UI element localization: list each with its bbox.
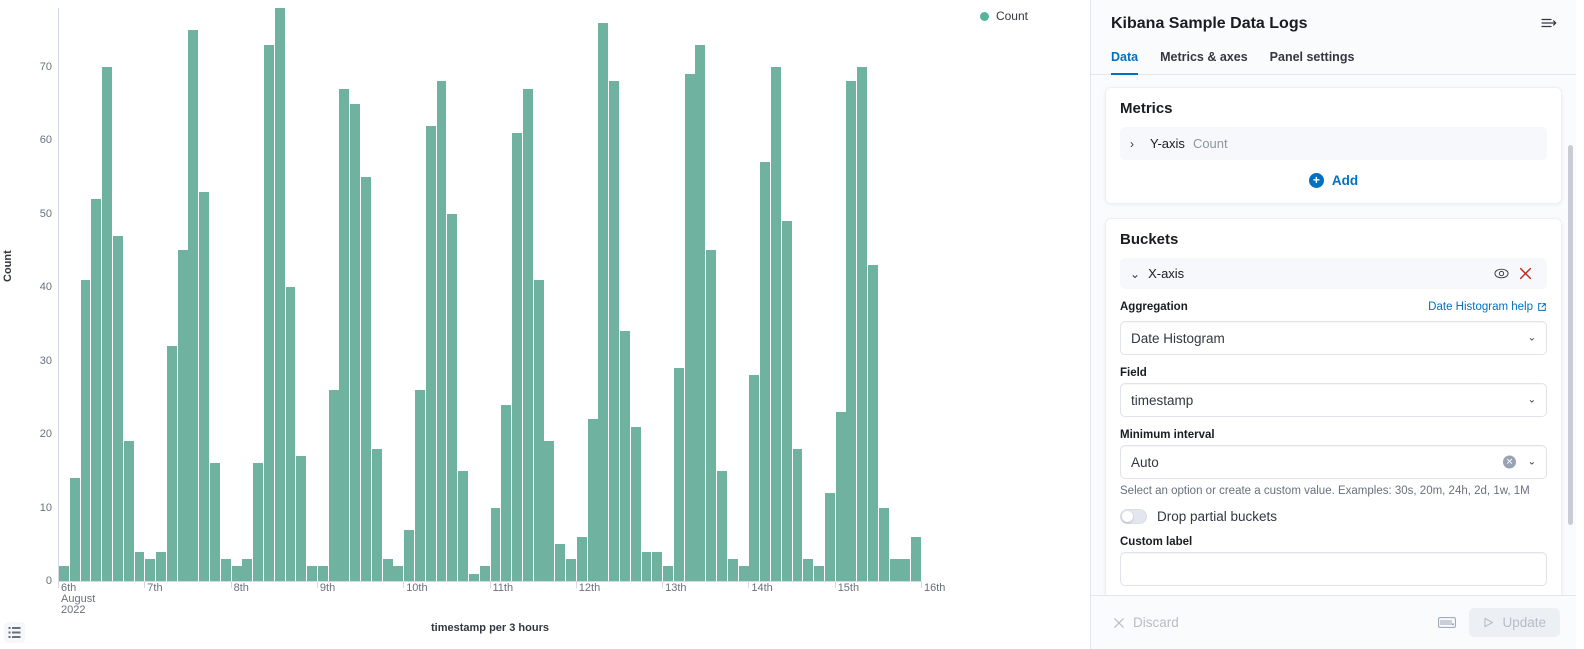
tick-mark	[144, 581, 145, 588]
x-axis-title: timestamp per 3 hours	[58, 622, 922, 634]
discard-label: Discard	[1133, 615, 1179, 630]
tab-panel-settings[interactable]: Panel settings	[1270, 46, 1355, 75]
update-button[interactable]: Update	[1469, 608, 1560, 637]
bar[interactable]	[868, 265, 878, 581]
tick-mark	[662, 581, 663, 588]
bar[interactable]	[598, 23, 608, 581]
bar[interactable]	[857, 67, 867, 581]
y-axis-tick-label: 70	[40, 61, 52, 73]
drop-partial-buckets-row: Drop partial buckets	[1120, 509, 1547, 524]
tab-metrics-axes[interactable]: Metrics & axes	[1160, 46, 1248, 75]
bar[interactable]	[210, 463, 220, 581]
bar[interactable]	[706, 250, 716, 581]
aggregation-select[interactable]: Date Histogram ⌄	[1120, 321, 1547, 355]
bar[interactable]	[534, 280, 544, 581]
bar[interactable]	[188, 30, 198, 581]
editor-tabs: Data Metrics & axes Panel settings	[1091, 46, 1576, 75]
x-axis-tick-label: 9th	[320, 583, 335, 594]
metrics-card: Metrics › Y-axis Count + Add	[1105, 87, 1562, 204]
chevron-down-icon: ⌄	[1528, 457, 1536, 468]
bucket-row-x-axis[interactable]: ⌄ X-axis	[1120, 258, 1547, 289]
bar[interactable]	[350, 104, 360, 582]
custom-label-label: Custom label	[1120, 536, 1547, 548]
bar[interactable]	[59, 566, 69, 581]
custom-label-input[interactable]	[1120, 552, 1547, 586]
bar[interactable]	[81, 280, 91, 581]
bar[interactable]	[512, 133, 522, 581]
editor-body: Metrics › Y-axis Count + Add Buckets ⌄ X…	[1091, 75, 1576, 595]
bar[interactable]	[663, 566, 673, 581]
bar[interactable]	[242, 559, 252, 581]
tick-mark	[403, 581, 404, 588]
bar[interactable]	[156, 552, 166, 581]
bar[interactable]	[803, 559, 813, 581]
bar[interactable]	[911, 537, 921, 581]
bar[interactable]	[469, 574, 479, 581]
bar[interactable]	[383, 559, 393, 581]
bar[interactable]	[404, 530, 414, 581]
y-axis-tick-label: 40	[40, 281, 52, 293]
tick-mark	[835, 581, 836, 588]
tick-mark	[317, 581, 318, 588]
bar[interactable]	[555, 544, 565, 581]
bar[interactable]	[232, 566, 242, 581]
bar[interactable]	[685, 74, 695, 581]
chevron-down-icon: ⌄	[1528, 395, 1536, 406]
chart-pane: Count Count 010203040506070 6th August 2…	[0, 0, 1090, 649]
bar[interactable]	[329, 390, 339, 581]
bar[interactable]	[70, 478, 80, 581]
remove-bucket-close-icon[interactable]	[1514, 267, 1537, 280]
legend-list-toggle-icon[interactable]	[4, 622, 25, 643]
bar[interactable]	[145, 559, 155, 581]
page-title: Kibana Sample Data Logs	[1111, 14, 1556, 34]
bar[interactable]	[782, 221, 792, 581]
tick-mark	[748, 581, 749, 588]
x-axis-tick-label: 12th	[579, 583, 600, 594]
tick-mark	[58, 581, 59, 588]
x-axis-tick-label: 11th	[493, 583, 514, 594]
bar-series	[59, 8, 922, 581]
bar[interactable]	[825, 493, 835, 581]
bar[interactable]	[609, 81, 619, 581]
kibana-visualize-editor: Count Count 010203040506070 6th August 2…	[0, 0, 1584, 649]
bar[interactable]	[728, 559, 738, 581]
metric-row-label: Y-axis	[1150, 136, 1185, 151]
collapse-panel-icon[interactable]	[1538, 12, 1560, 34]
x-axis-tick-label: 13th	[665, 583, 686, 594]
bar[interactable]	[846, 81, 856, 581]
bar[interactable]	[437, 81, 447, 581]
bar[interactable]	[339, 89, 349, 581]
x-axis-tick-label: 14th	[751, 583, 772, 594]
minimum-interval-label: Minimum interval	[1120, 429, 1547, 441]
bucket-row-label: X-axis	[1148, 266, 1489, 281]
bar[interactable]	[275, 8, 285, 581]
bar[interactable]	[91, 199, 101, 581]
update-label: Update	[1502, 615, 1546, 630]
tick-mark	[490, 581, 491, 588]
bar[interactable]	[253, 463, 263, 581]
date-histogram-help-link[interactable]: Date Histogram help	[1428, 301, 1547, 313]
y-axis-tick-labels: 010203040506070	[20, 0, 52, 649]
bar[interactable]	[221, 559, 231, 581]
tick-mark	[921, 581, 922, 588]
bar[interactable]	[566, 559, 576, 581]
bar[interactable]	[739, 566, 749, 581]
editor-scrollbar[interactable]	[1568, 145, 1573, 525]
metric-row-sublabel: Count	[1193, 136, 1228, 151]
buckets-heading: Buckets	[1120, 231, 1547, 248]
bar[interactable]	[296, 456, 306, 581]
plot-area: Count 010203040506070 6th August 20227th…	[0, 0, 1090, 649]
y-axis-tick-label: 0	[46, 575, 52, 587]
drop-partial-buckets-label: Drop partial buckets	[1157, 509, 1277, 524]
bar[interactable]	[102, 67, 112, 581]
bar[interactable]	[393, 566, 403, 581]
bar[interactable]	[836, 412, 846, 581]
bar[interactable]	[695, 45, 705, 581]
tick-mark	[576, 581, 577, 588]
x-axis-tick-label: 8th	[234, 583, 249, 594]
bar[interactable]	[447, 214, 457, 581]
bar[interactable]	[372, 449, 382, 581]
aggregation-value: Date Histogram	[1131, 331, 1225, 346]
clear-value-icon[interactable]: ✕	[1503, 456, 1516, 469]
chevron-down-icon: ⌄	[1528, 333, 1536, 344]
add-metric-button[interactable]: + Add	[1120, 172, 1547, 189]
bar[interactable]	[577, 537, 587, 581]
bar[interactable]	[879, 508, 889, 581]
plus-circle-icon: +	[1309, 173, 1324, 188]
x-axis-tick-label: 15th	[838, 583, 859, 594]
editor-panel: Kibana Sample Data Logs Data Metrics & a…	[1090, 0, 1576, 649]
chevron-right-icon: ›	[1130, 137, 1142, 151]
tick-mark	[231, 581, 232, 588]
bar[interactable]	[491, 508, 501, 581]
y-axis-tick-label: 10	[40, 502, 52, 514]
buckets-card: Buckets ⌄ X-axis	[1105, 218, 1562, 595]
toggle-knob	[1122, 511, 1133, 522]
bar[interactable]	[523, 89, 533, 581]
y-axis-tick-label: 30	[40, 355, 52, 367]
bar[interactable]	[361, 177, 371, 581]
bar[interactable]	[113, 236, 123, 581]
add-metric-label: Add	[1332, 173, 1358, 188]
help-link-label: Date Histogram help	[1428, 301, 1533, 313]
chevron-down-icon: ⌄	[1130, 267, 1140, 281]
metrics-heading: Metrics	[1120, 100, 1547, 117]
bar[interactable]	[178, 250, 188, 581]
editor-footer: Discard Update	[1091, 595, 1576, 649]
bar[interactable]	[793, 449, 803, 581]
drop-partial-buckets-toggle[interactable]	[1120, 509, 1147, 524]
editor-header: Kibana Sample Data Logs	[1091, 0, 1576, 34]
y-axis-tick-label: 50	[40, 208, 52, 220]
bar[interactable]	[674, 368, 684, 581]
bar[interactable]	[458, 471, 468, 581]
bar[interactable]	[749, 375, 759, 581]
bar[interactable]	[167, 346, 177, 581]
bar[interactable]	[124, 441, 134, 581]
bar[interactable]	[501, 405, 511, 581]
bar[interactable]	[318, 566, 328, 581]
tab-data[interactable]: Data	[1111, 46, 1138, 75]
bar[interactable]	[620, 331, 630, 581]
aggregation-field-row: Aggregation Date Histogram help	[1120, 301, 1547, 317]
minimum-interval-combobox[interactable]: Auto ✕ ⌄	[1120, 445, 1547, 479]
keyboard-shortcut-icon[interactable]	[1435, 613, 1459, 632]
bar[interactable]	[588, 419, 598, 581]
x-axis-tick-label: 7th	[147, 583, 162, 594]
bar[interactable]	[480, 566, 490, 581]
x-axis-tick-label: 10th	[406, 583, 427, 594]
field-value: timestamp	[1131, 393, 1193, 408]
y-axis-title: Count	[2, 250, 14, 282]
bar[interactable]	[135, 552, 145, 581]
aggregation-label: Aggregation	[1120, 301, 1188, 313]
bar[interactable]	[631, 427, 641, 581]
discard-button[interactable]: Discard	[1107, 614, 1185, 631]
x-axis-tick-label: 16th	[924, 583, 945, 594]
bar[interactable]	[199, 192, 209, 581]
bar[interactable]	[717, 471, 727, 581]
x-axis-tick-label: 6th August 2022	[61, 583, 95, 616]
minimum-interval-hint: Select an option or create a custom valu…	[1120, 484, 1547, 499]
bar[interactable]	[264, 45, 274, 581]
bar[interactable]	[900, 559, 910, 581]
bar[interactable]	[544, 441, 554, 581]
bar[interactable]	[814, 566, 824, 581]
bar[interactable]	[890, 559, 900, 581]
bar[interactable]	[652, 552, 662, 581]
bar[interactable]	[415, 390, 425, 581]
bar[interactable]	[771, 67, 781, 581]
bar[interactable]	[286, 287, 296, 581]
bar[interactable]	[307, 566, 317, 581]
x-axis-tick-labels: 6th August 20227th8th9th10th11th12th13th…	[58, 581, 924, 623]
y-axis-tick-label: 20	[40, 428, 52, 440]
field-label: Field	[1120, 367, 1547, 379]
bar[interactable]	[642, 552, 652, 581]
toggle-visibility-eye-icon[interactable]	[1489, 267, 1514, 280]
metric-row-y-axis[interactable]: › Y-axis Count	[1120, 127, 1547, 160]
bar[interactable]	[426, 126, 436, 581]
minimum-interval-value: Auto	[1131, 455, 1159, 470]
bar[interactable]	[760, 162, 770, 581]
y-axis-tick-label: 60	[40, 134, 52, 146]
field-select[interactable]: timestamp ⌄	[1120, 383, 1547, 417]
